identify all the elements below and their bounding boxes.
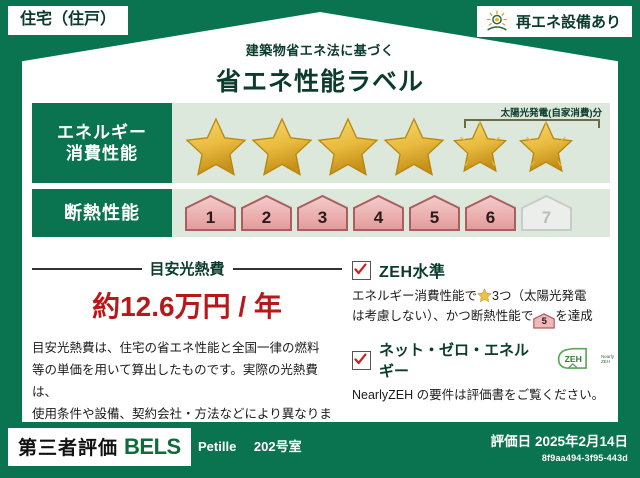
insulation-chip-1: 1 xyxy=(184,194,237,232)
zeh-desc-part-d: を達成 xyxy=(555,309,593,323)
utility-cost-block: 目安光熱費 約12.6万円 / 年 目安光熱費は、住宅の省エネ性能と全国一律の燃… xyxy=(32,258,342,447)
utility-cost-note-line1: 目安光熱費は、住宅の省エネ性能と全国一律の燃料 xyxy=(32,338,342,360)
insulation-chip-inline: 5 xyxy=(533,313,555,329)
title-subtitle: 建築物省エネ法に基づく xyxy=(0,40,640,59)
heading-rule-left xyxy=(32,268,142,270)
insulation-performance-label: 断熱性能 xyxy=(32,189,172,237)
insulation-rating-area: 1 2 3 4 5 xyxy=(172,189,610,237)
sun-icon xyxy=(485,10,509,32)
performance-rows: エネルギー 消費性能 太陽光発電(自家消費)分 xyxy=(32,103,610,243)
third-party-eval-label: 第三者評価 xyxy=(18,433,118,460)
energy-rating-area: 太陽光発電(自家消費)分 xyxy=(172,103,610,183)
checkbox-checked-icon xyxy=(352,351,371,370)
bels-certification-mark: 第三者評価 BELS xyxy=(8,428,191,466)
insulation-chip-5: 5 xyxy=(408,194,461,232)
insulation-chip-3: 3 xyxy=(296,194,349,232)
zeh-desc-part-a: エネルギー消費性能で xyxy=(352,289,477,303)
solar-annotation-bracket xyxy=(464,119,600,128)
star-icon xyxy=(250,116,314,178)
zeh-house-logo-icon: ZEH xyxy=(555,347,593,373)
property-identification: Petille 202号室 xyxy=(198,436,302,455)
energy-label-line1: エネルギー xyxy=(57,122,147,143)
building-name: Petille xyxy=(198,439,236,454)
dwelling-type-tag: 住宅（住戸） xyxy=(8,6,128,35)
insulation-chip-label: 6 xyxy=(486,208,495,232)
insulation-level-chips: 1 2 3 4 5 xyxy=(172,194,573,232)
star-icon xyxy=(382,116,446,178)
evaluation-date-label: 評価日 xyxy=(491,434,532,449)
label-footer: 第三者評価 BELS Petille 202号室 評価日 2025年2月14日 … xyxy=(0,422,640,478)
svg-text:ZEH: ZEH xyxy=(564,354,581,364)
utility-cost-heading: 目安光熱費 xyxy=(32,258,342,279)
insulation-chip-label: 1 xyxy=(206,208,215,232)
zeh-standard-description: エネルギー消費性能で3つ（太陽光発電 は考慮しない）、かつ断熱性能で5を達成 xyxy=(352,286,614,329)
insulation-chip-4: 4 xyxy=(352,194,405,232)
zeh-logo-sub2: ZEH xyxy=(601,359,610,364)
evaluation-id: 8f9aa494-3f95-443d xyxy=(491,453,628,463)
page-title: 省エネ性能ラベル xyxy=(0,62,640,98)
insulation-performance-row: 断熱性能 1 2 3 xyxy=(32,189,610,237)
net-zero-energy-item: ネット・ゼロ・エネルギー ZEH Nearly ZEH NearlyZEH の要… xyxy=(352,339,614,405)
star-icon xyxy=(316,116,380,178)
zeh-desc-part-b: 3つ（太陽光発電 xyxy=(492,289,586,303)
renewable-equipment-badge: 再エネ設備あり xyxy=(477,6,632,37)
insulation-chip-inline-label: 5 xyxy=(533,313,555,330)
label-title-group: 建築物省エネ法に基づく 省エネ性能ラベル xyxy=(0,40,640,98)
utility-cost-heading-text: 目安光熱費 xyxy=(150,258,225,279)
insulation-label-text: 断熱性能 xyxy=(64,202,140,225)
insulation-chip-label: 7 xyxy=(542,208,551,232)
insulation-chip-label: 2 xyxy=(262,208,271,232)
zeh-standard-item: ZEH水準 エネルギー消費性能で3つ（太陽光発電 は考慮しない）、かつ断熱性能で… xyxy=(352,258,614,329)
insulation-chip-label: 3 xyxy=(318,208,327,232)
insulation-chip-2: 2 xyxy=(240,194,293,232)
renewable-badge-label: 再エネ設備あり xyxy=(516,11,621,32)
energy-performance-row: エネルギー 消費性能 太陽光発電(自家消費)分 xyxy=(32,103,610,183)
energy-performance-label: 住宅（住戸） 再エネ設備あり 建築物省エネ法に基づく xyxy=(0,0,640,478)
star-icon-inline xyxy=(477,288,492,303)
solar-annotation-label: 太陽光発電(自家消費)分 xyxy=(501,105,602,119)
insulation-chip-label: 5 xyxy=(430,208,439,232)
zeh-logo-subtext: Nearly ZEH xyxy=(601,355,614,365)
energy-performance-label: エネルギー 消費性能 xyxy=(32,103,172,183)
star-icon xyxy=(184,116,248,178)
insulation-chip-label: 4 xyxy=(374,208,383,232)
zeh-certification-block: ZEH水準 エネルギー消費性能で3つ（太陽光発電 は考慮しない）、かつ断熱性能で… xyxy=(352,258,614,415)
zeh-standard-head: ZEH水準 xyxy=(352,258,614,282)
insulation-chip-7: 7 xyxy=(520,194,573,232)
utility-cost-note-line2: 等の単価を用いて算出したものです。実際の光熱費は、 xyxy=(32,360,342,404)
insulation-chip-6: 6 xyxy=(464,194,517,232)
evaluation-date-line: 評価日 2025年2月14日 xyxy=(491,430,628,450)
utility-cost-value: 約12.6万円 / 年 xyxy=(32,285,342,325)
evaluation-date-value: 2025年2月14日 xyxy=(535,434,628,449)
checkbox-checked-icon xyxy=(352,261,371,280)
energy-label-line2: 消費性能 xyxy=(66,143,138,164)
room-number: 202号室 xyxy=(254,439,302,454)
zeh-standard-title: ZEH水準 xyxy=(379,258,446,282)
zeh-desc-part-c: は考慮しない）、かつ断熱性能で xyxy=(352,309,533,323)
heading-rule-right xyxy=(233,268,343,270)
net-zero-energy-description: NearlyZEH の要件は評価書をご覧ください。 xyxy=(352,385,614,405)
bels-logo-text: BELS xyxy=(124,434,181,460)
evaluation-info: 評価日 2025年2月14日 8f9aa494-3f95-443d xyxy=(491,430,628,463)
net-zero-energy-head: ネット・ゼロ・エネルギー ZEH Nearly ZEH xyxy=(352,339,614,381)
net-zero-energy-title: ネット・ゼロ・エネルギー xyxy=(379,339,544,381)
